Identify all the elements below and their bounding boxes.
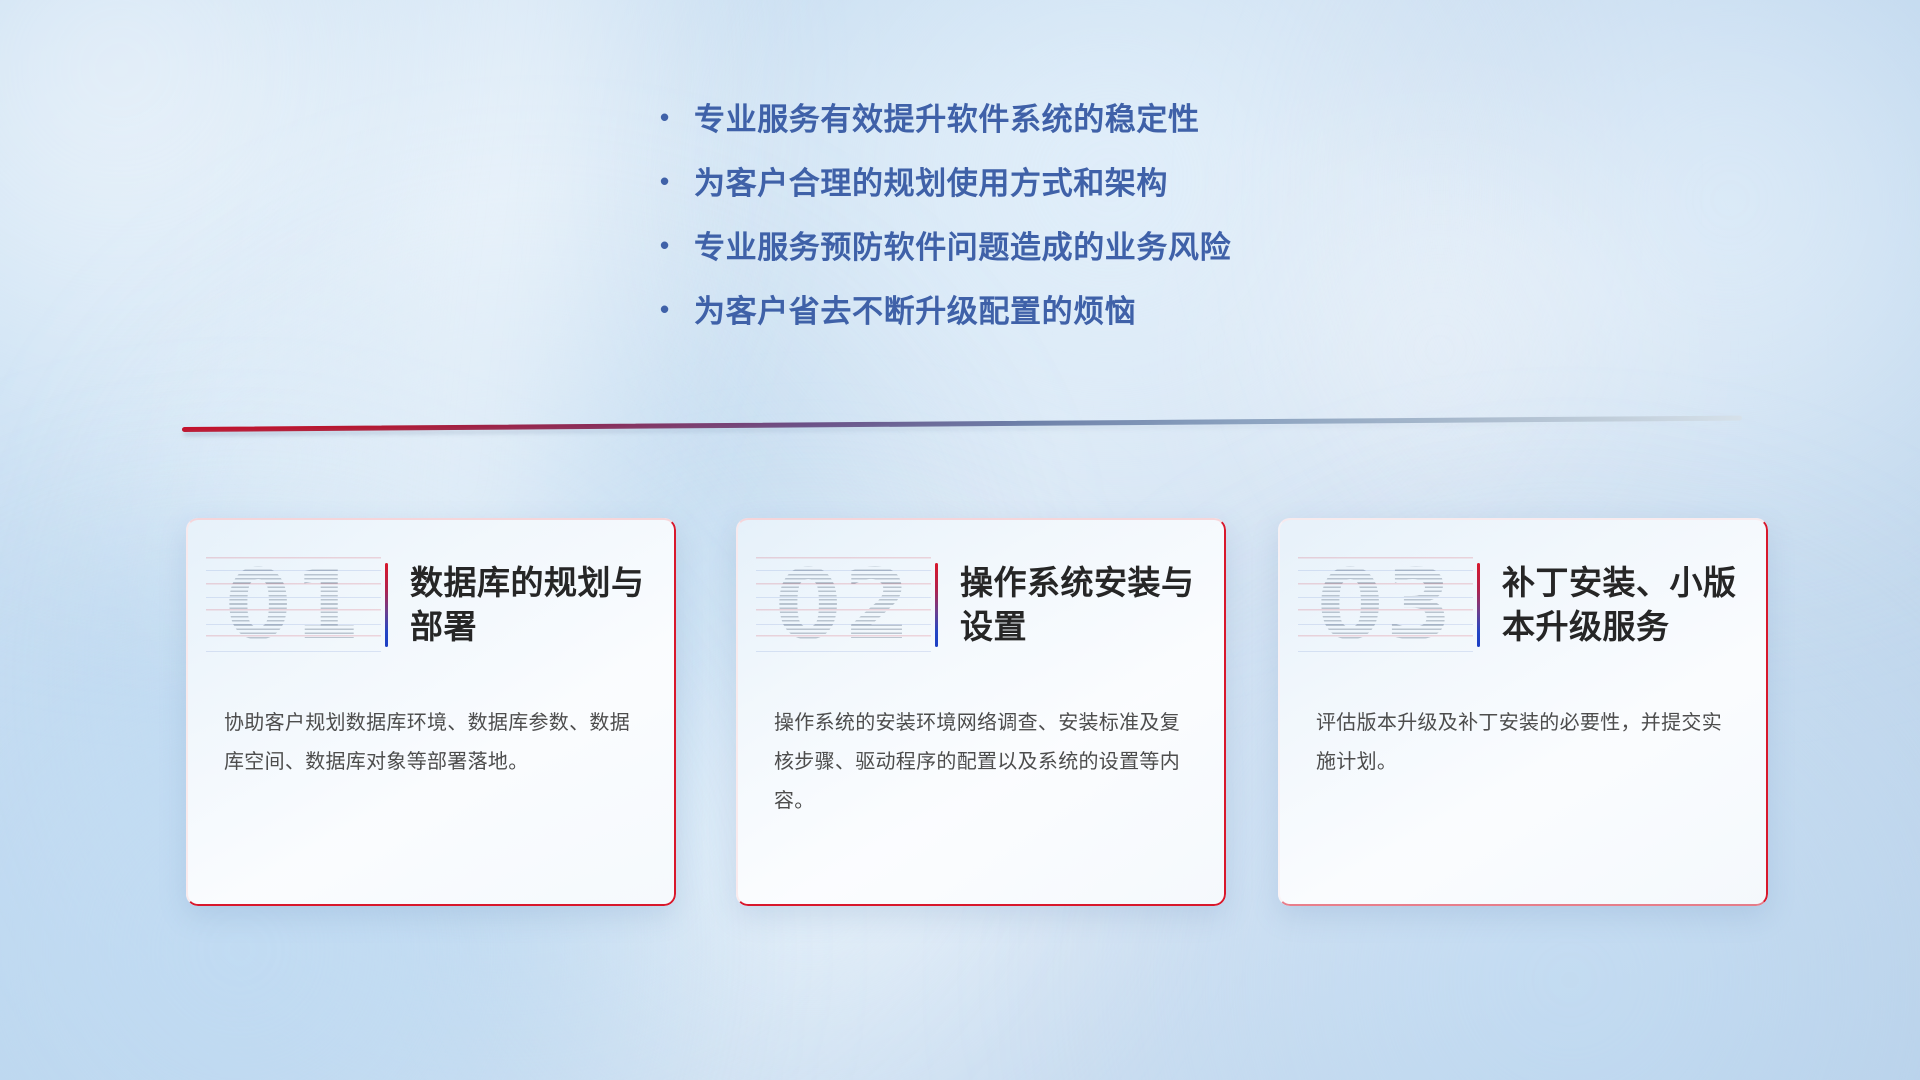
card-number: 01 <box>225 557 363 653</box>
card-title-divider <box>385 563 388 647</box>
card-body-text: 评估版本升级及补丁安装的必要性，并提交实施计划。 <box>1316 704 1734 782</box>
card-header: 03 补丁安装、小版本升级服务 <box>1278 542 1768 668</box>
card-title: 数据库的规划与部署 <box>410 561 676 648</box>
bullet-list: • 专业服务有效提升软件系统的稳定性 • 为客户合理的规划使用方式和架构 • 专… <box>660 104 1480 327</box>
service-card-group: 01 数据库的规划与部署 协助客户规划数据库环境、数据库参数、数据库空间、数据库… <box>0 518 1920 938</box>
list-item: • 专业服务有效提升软件系统的稳定性 <box>660 104 1480 135</box>
bullet-marker-icon: • <box>660 168 694 195</box>
card-header: 02 操作系统安装与设置 <box>736 542 1226 668</box>
card-body-text: 协助客户规划数据库环境、数据库参数、数据库空间、数据库对象等部署落地。 <box>224 704 642 782</box>
card-title: 操作系统安装与设置 <box>960 561 1226 648</box>
service-card-02[interactable]: 02 操作系统安装与设置 操作系统的安装环境网络调查、安装标准及复核步骤、驱动程… <box>736 518 1226 906</box>
bullet-text: 为客户合理的规划使用方式和架构 <box>694 168 1168 199</box>
bullet-marker-icon: • <box>660 104 694 131</box>
bullet-marker-icon: • <box>660 296 694 323</box>
service-card-03[interactable]: 03 补丁安装、小版本升级服务 评估版本升级及补丁安装的必要性，并提交实施计划。 <box>1278 518 1768 906</box>
service-card-01[interactable]: 01 数据库的规划与部署 协助客户规划数据库环境、数据库参数、数据库空间、数据库… <box>186 518 676 906</box>
card-title: 补丁安装、小版本升级服务 <box>1502 561 1768 648</box>
list-item: • 为客户合理的规划使用方式和架构 <box>660 168 1480 199</box>
bullet-marker-icon: • <box>660 232 694 259</box>
card-number-wrap: 02 <box>756 557 931 653</box>
list-item: • 为客户省去不断升级配置的烦恼 <box>660 296 1480 327</box>
bullet-text: 专业服务有效提升软件系统的稳定性 <box>694 104 1200 135</box>
card-number-wrap: 01 <box>206 557 381 653</box>
card-number: 03 <box>1317 557 1455 653</box>
card-number: 02 <box>775 557 913 653</box>
bullet-text: 为客户省去不断升级配置的烦恼 <box>694 296 1136 327</box>
card-number-wrap: 03 <box>1298 557 1473 653</box>
card-title-divider <box>1477 563 1480 647</box>
card-title-divider <box>935 563 938 647</box>
card-body-text: 操作系统的安装环境网络调查、安装标准及复核步骤、驱动程序的配置以及系统的设置等内… <box>774 704 1192 821</box>
card-header: 01 数据库的规划与部署 <box>186 542 676 668</box>
bullet-text: 专业服务预防软件问题造成的业务风险 <box>694 232 1231 263</box>
list-item: • 专业服务预防软件问题造成的业务风险 <box>660 232 1480 263</box>
